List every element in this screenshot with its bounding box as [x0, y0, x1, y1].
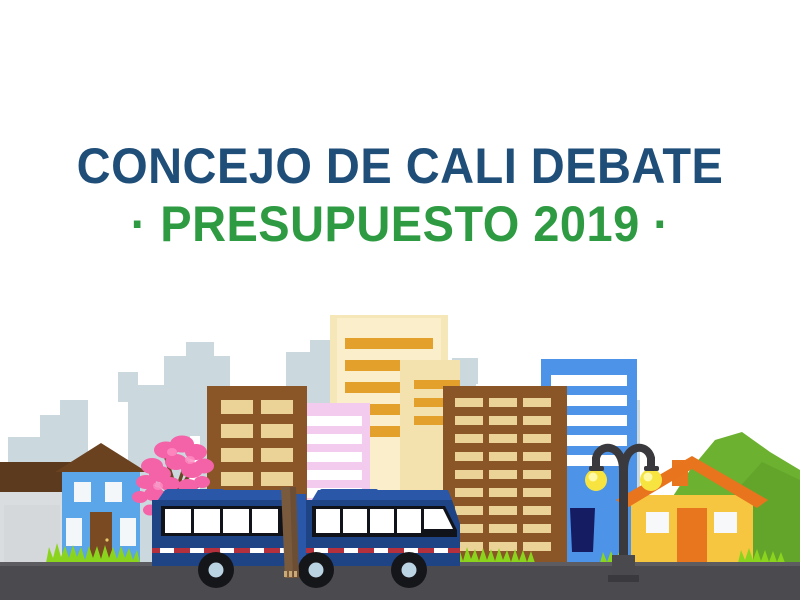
brown-building-right	[443, 386, 567, 564]
page-title-line2: · PRESUPUESTO 2019 ·	[24, 198, 776, 250]
bus-wheel	[391, 552, 427, 588]
city-street-illustration	[0, 0, 800, 600]
page-title-line1: CONCEJO DE CALI DEBATE	[24, 140, 776, 192]
bus-stop-sign	[570, 508, 595, 552]
title-block: CONCEJO DE CALI DEBATE · PRESUPUESTO 201…	[0, 140, 800, 250]
bus-wheel	[298, 552, 334, 588]
bus-wheel	[198, 552, 234, 588]
slide-root: CONCEJO DE CALI DEBATE · PRESUPUESTO 201…	[0, 0, 800, 600]
